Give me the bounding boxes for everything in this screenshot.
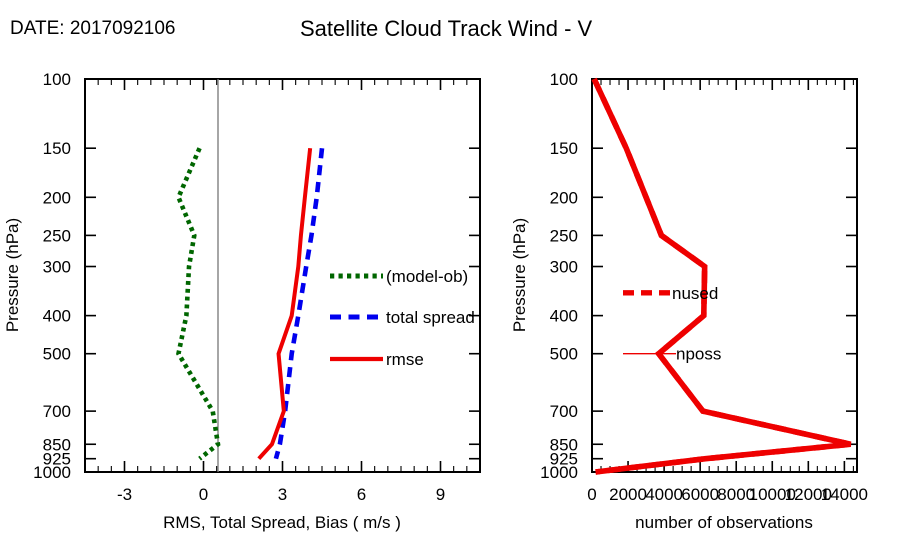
- left-series-group: [178, 148, 322, 458]
- right-y-axis-title: Pressure (hPa): [510, 218, 529, 332]
- right-y-tick-label: 400: [550, 307, 578, 326]
- left-x-tick-label: -3: [117, 485, 132, 504]
- right-series-nused: [594, 79, 851, 472]
- right-x-tick-label: 2000: [609, 485, 647, 504]
- right-y-tick-label: 300: [550, 258, 578, 277]
- right-x-tick-label: 4000: [645, 485, 683, 504]
- right-x-axis-title: number of observations: [635, 513, 813, 532]
- right-x-tick-label: 6000: [681, 485, 719, 504]
- left-y-axis-title: Pressure (hPa): [3, 218, 22, 332]
- annotation-label-nused: nused: [672, 284, 718, 303]
- right-y-tick-label: 100: [550, 70, 578, 89]
- right-y-tick-label: 250: [550, 226, 578, 245]
- annotation-label-nposs: nposs: [676, 345, 721, 364]
- right-x-tick-label: 0: [587, 485, 596, 504]
- left-x-tick-label: 9: [436, 485, 445, 504]
- left-y-tick-label: 700: [43, 402, 71, 421]
- right-x-tick-label: 14000: [821, 485, 868, 504]
- right-x-tick-labels: 02000400060008000100001200014000: [587, 485, 868, 504]
- right-plot-frame: [592, 79, 857, 472]
- left-y-tick-labels: 1001502002503004005007008509251000: [33, 70, 71, 482]
- left-x-tick-label: 3: [278, 485, 287, 504]
- plot-canvas: 1001502002503004005007008509251000 -3036…: [0, 0, 900, 560]
- legend-label: rmse: [386, 350, 424, 369]
- left-y-tick-label: 200: [43, 188, 71, 207]
- left-x-tick-label: 0: [199, 485, 208, 504]
- right-y-tick-label: 150: [550, 139, 578, 158]
- left-x-axis-title: RMS, Total Spread, Bias ( m/s ): [163, 513, 401, 532]
- right-y-tick-label: 200: [550, 188, 578, 207]
- left-legend: (model-ob)total spreadrmse: [330, 267, 475, 369]
- left-y-tick-label: 100: [43, 70, 71, 89]
- left-y-tick-label: 300: [43, 258, 71, 277]
- left-y-tick-label: 400: [43, 307, 71, 326]
- legend-label: (model-ob): [386, 267, 468, 286]
- right-y-tick-label: 700: [550, 402, 578, 421]
- left-y-tick-label: 1000: [33, 463, 71, 482]
- right-annotations: nusednposs: [623, 284, 721, 364]
- left-panel: 1001502002503004005007008509251000 -3036…: [3, 70, 480, 532]
- left-series-modelob: [178, 148, 218, 458]
- left-x-tick-labels: -30369: [117, 485, 445, 504]
- right-panel: 1001502002503004005007008509251000 02000…: [510, 70, 868, 532]
- figure-root: DATE: 2017092106 Satellite Cloud Track W…: [0, 0, 900, 560]
- right-y-tick-label: 500: [550, 345, 578, 364]
- legend-label: total spread: [386, 308, 475, 327]
- left-y-tick-label: 500: [43, 345, 71, 364]
- left-y-tick-label: 150: [43, 139, 71, 158]
- right-y-tick-labels: 1001502002503004005007008509251000: [540, 70, 578, 482]
- right-series-group: [594, 79, 851, 472]
- right-y-tick-label: 1000: [540, 463, 578, 482]
- left-x-tick-label: 6: [357, 485, 366, 504]
- right-y-ticks: [592, 79, 857, 472]
- left-y-tick-label: 250: [43, 226, 71, 245]
